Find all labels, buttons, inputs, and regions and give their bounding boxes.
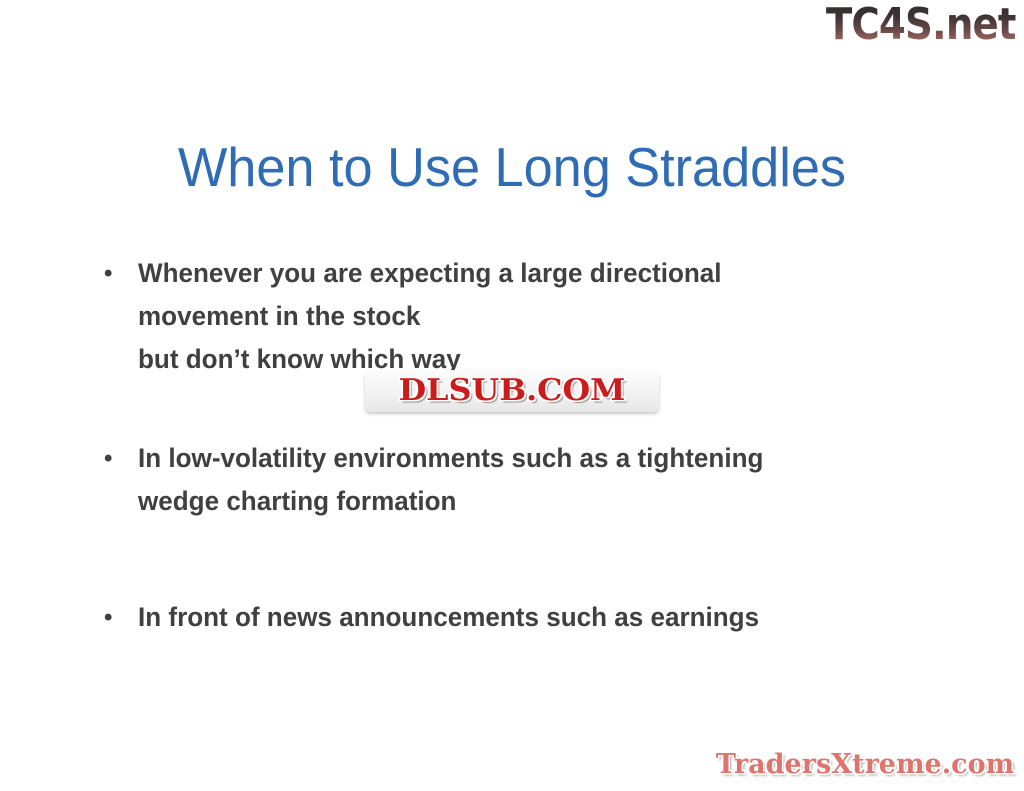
list-item: • In front of news announcements such as…: [100, 596, 930, 639]
bullet-list: • Whenever you are expecting a large dir…: [100, 252, 930, 639]
dlsub-watermark-text: DLSUB.COM: [399, 376, 626, 406]
presentation-slide: TC4S.net When to Use Long Straddles • Wh…: [0, 0, 1024, 791]
bullet-dot-icon: •: [100, 252, 138, 295]
list-item-text: In front of news announcements such as e…: [138, 596, 902, 639]
bullet-dot-icon: •: [100, 437, 138, 480]
list-item-text: Whenever you are expecting a large direc…: [138, 252, 902, 381]
dlsub-watermark: DLSUB.COM: [365, 370, 659, 412]
list-item: • Whenever you are expecting a large dir…: [100, 252, 930, 381]
page-title: When to Use Long Straddles: [26, 136, 999, 198]
bullet-dot-icon: •: [100, 596, 138, 639]
list-item-text: In low-volatility environments such as a…: [138, 437, 902, 523]
tc4s-watermark: TC4S.net: [826, 2, 1016, 48]
tradersxtreme-watermark: TradersXtreme.com: [712, 744, 1018, 786]
list-item: • In low-volatility environments such as…: [100, 437, 930, 523]
tradersxtreme-watermark-text: TradersXtreme.com: [716, 750, 1014, 780]
